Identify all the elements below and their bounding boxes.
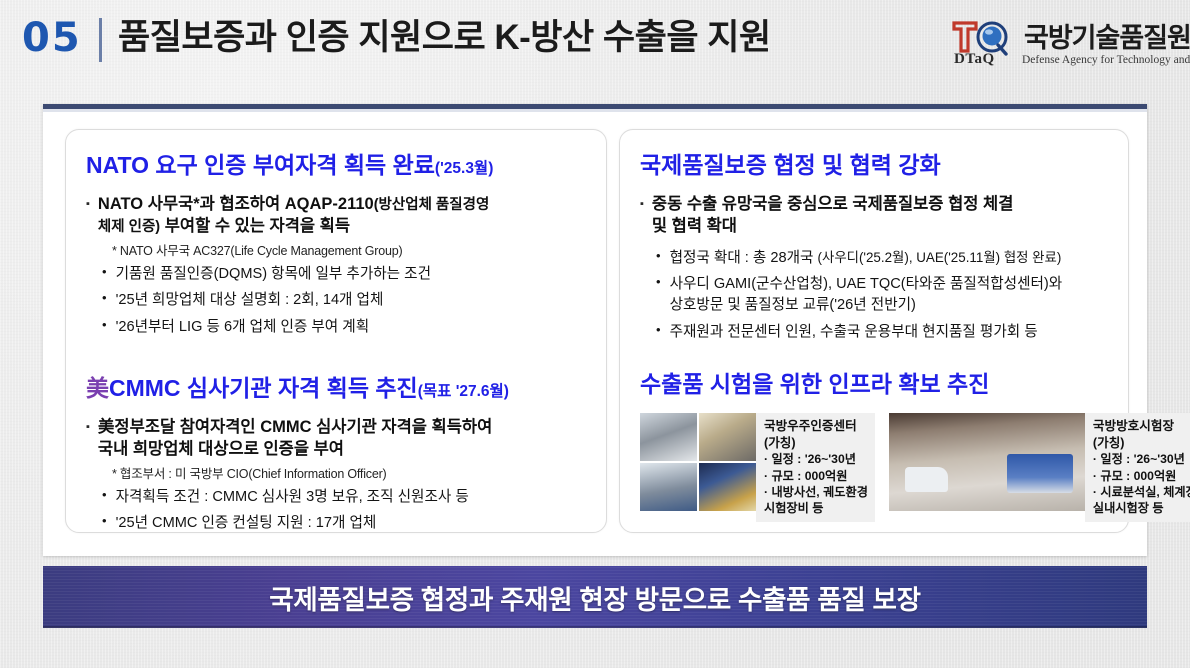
left-s1-b1a: NATO 사무국*과 협조하여 AQAP-2110: [98, 195, 374, 213]
right-s1-sub1-a: 사우디 GAMI(군수산업청), UAE TQC(타와준 품질적합성센터)와: [670, 276, 1063, 292]
caption-line: · 규모 : 000억원: [1093, 468, 1190, 484]
caption-line-label: · 일정 :: [1093, 452, 1134, 466]
left-s2-sub-0: 자격획득 조건 : CMMC 심사원 3명 보유, 조직 신원조사 등: [116, 487, 469, 508]
left-s2-b1b: 국내 희망업체 대상으로 인증을 부여: [98, 440, 344, 458]
caption-line-label: · 내방사선, 궤도환경: [764, 485, 868, 499]
caption-line-value: 000억원: [1134, 469, 1177, 483]
caption-line-label: · 규모 :: [764, 469, 805, 483]
protection-site-caption: 국방방호시험장 (가칭) · 일정 : '26~'30년 · 규모 : 000억…: [1085, 413, 1190, 522]
right-section1-title-main: 국제품질보증 협정 및 협력 강화: [640, 152, 941, 178]
left-section2-title-paren: (목표 '27.6월): [418, 383, 509, 400]
bullet-secondary: • 기품원 품질인증(DQMS) 항목에 일부 추가하는 조건: [102, 264, 596, 285]
left-section1-title-main: NATO 요구 인증 부여자격 획득 완료: [86, 152, 435, 178]
dtaq-logo: 국방기술품질원 DTaQ Defense Agency for Technolo…: [940, 18, 1178, 76]
bullet-dot-icon: •: [102, 513, 107, 534]
caption-line: 시험장비 등: [764, 500, 868, 516]
bullet-dot-icon: •: [102, 317, 107, 338]
bullet-dot-icon: •: [656, 274, 661, 315]
bullet-square-icon: ▪: [640, 194, 644, 238]
right-s1-sub0-a: 협정국 확대 : 총 28개국: [670, 250, 818, 266]
right-section2-title-main: 수출품 시험을 위한 인프라 확보 추진: [640, 371, 989, 397]
left-section2-title-cn: 美: [86, 375, 109, 401]
caption-line-label: · 일정 :: [764, 452, 805, 466]
slide-header: 05 품질보증과 인증 지원으로 K-방산 수출을 지원 국방기술품질원 DTa…: [0, 0, 1190, 92]
left-section2-body: ▪ 美정부조달 참여자격인 CMMC 심사기관 자격을 획득하여 국내 희망업체…: [86, 417, 596, 540]
logo-abbrev: DTaQ: [954, 51, 995, 68]
right-section1-body: ▪ 중동 수출 유망국을 중심으로 국제품질보증 협정 체결 및 협력 확대 •…: [640, 194, 1120, 348]
caption-subtitle: (가칭): [764, 435, 868, 452]
infra-block-protection-site: 국방방호시험장 (가칭) · 일정 : '26~'30년 · 규모 : 000억…: [889, 413, 1190, 522]
caption-line-value: '26~'30년: [1134, 452, 1185, 466]
content-board: NATO 요구 인증 부여자격 획득 완료('25.3월) ▪ NATO 사무국…: [43, 104, 1147, 556]
bullet-primary: ▪ 美정부조달 참여자격인 CMMC 심사기관 자격을 획득하여 국내 희망업체…: [86, 417, 596, 461]
bullet-secondary: • '26년부터 LIG 등 6개 업체 인증 부여 계획: [102, 317, 596, 338]
caption-line: · 일정 : '26~'30년: [764, 451, 868, 467]
space-center-caption: 국방우주인증센터 (가칭) · 일정 : '26~'30년 · 규모 : 000…: [756, 413, 875, 522]
bullet-secondary: • '25년 CMMC 인증 컨설팅 지원 : 17개 업체: [102, 513, 596, 534]
left-s1-note: * NATO 사무국 AC327(Life Cycle Management G…: [112, 240, 596, 259]
left-section1-title-paren: ('25.3월): [435, 160, 493, 177]
right-s1-b1a: 중동 수출 유망국을 중심으로 국제품질보증 협정 체결: [652, 195, 1013, 213]
left-section2-title: 美CMMC 심사기관 자격 획득 추진(목표 '27.6월): [86, 377, 509, 400]
left-s1-b1b: (방산업체 품질경영: [374, 197, 490, 213]
bullet-square-icon: ▪: [86, 194, 90, 238]
caption-line-label: · 규모 :: [1093, 469, 1134, 483]
left-section2-title-main: CMMC 심사기관 자격 획득 추진: [109, 375, 418, 401]
bullet-dot-icon: •: [656, 248, 661, 269]
bullet-secondary: • '25년 희망업체 대상 설명회 : 2회, 14개 업체: [102, 290, 596, 311]
caption-line: · 규모 : 000억원: [764, 468, 868, 484]
bullet-secondary: • 사우디 GAMI(군수산업청), UAE TQC(타와준 품질적합성센터)와…: [656, 274, 1120, 315]
logo-korean-name: 국방기술품질원: [1024, 16, 1190, 55]
left-s2-b1a: 美정부조달 참여자격인 CMMC 심사기관 자격을 획득하여: [98, 418, 492, 436]
caption-line: · 내방사선, 궤도환경: [764, 484, 868, 500]
left-s1-b1d: 부여할 수 있는 자격을 획득: [160, 217, 350, 235]
bullet-secondary: • 주재원과 전문센터 인원, 수출국 운용부대 현지품질 평가회 등: [656, 322, 1120, 343]
bullet-square-icon: ▪: [86, 417, 90, 461]
left-s1-sub-0: 기품원 품질인증(DQMS) 항목에 일부 추가하는 조건: [116, 264, 431, 285]
bullet-dot-icon: •: [102, 290, 107, 311]
photo-satellite-1: [699, 463, 756, 511]
left-section1-title: NATO 요구 인증 부여자격 획득 완료('25.3월): [86, 154, 493, 177]
page-title: 품질보증과 인증 지원으로 K-방산 수출을 지원: [118, 17, 771, 59]
board-top-accent-light: [43, 109, 1147, 112]
photo-chamber-1: [699, 413, 756, 461]
right-s1-sub2-a: 주재원과 전문센터 인원, 수출국 운용부대 현지품질 평가회 등: [670, 322, 1038, 343]
right-section1-title: 국제품질보증 협정 및 협력 강화: [640, 154, 941, 177]
bottom-summary-banner: 국제품질보증 협정과 주재원 현장 방문으로 수출품 품질 보장: [43, 566, 1147, 628]
logo-english-name: Defense Agency for Technology and Qualit…: [1022, 54, 1190, 66]
defense-protection-test-site-photo: [889, 413, 1085, 511]
right-s1-sub1-b: 상호방문 및 품질정보 교류('26년 전반기): [670, 297, 916, 313]
right-s1-sub0-b: (사우디('25.2월), UAE('25.11월) 협정 완료): [818, 250, 1062, 265]
header-divider: [99, 18, 102, 62]
photo-lab-2: [640, 463, 697, 511]
caption-title: 국방우주인증센터: [764, 418, 868, 435]
caption-line: 실내시험장 등: [1093, 500, 1190, 516]
left-s2-sub-1: '25년 CMMC 인증 컨설팅 지원 : 17개 업체: [116, 513, 377, 534]
infrastructure-photo-blocks: 국방우주인증센터 (가칭) · 일정 : '26~'30년 · 규모 : 000…: [640, 413, 1190, 522]
right-content-card: 국제품질보증 협정 및 협력 강화 ▪ 중동 수출 유망국을 중심으로 국제품질…: [619, 129, 1129, 533]
caption-line-label: 시험장비 등: [764, 501, 823, 515]
bullet-dot-icon: •: [102, 487, 107, 508]
caption-line-label: 실내시험장 등: [1093, 501, 1164, 515]
caption-line: · 일정 : '26~'30년: [1093, 451, 1190, 467]
left-s1-b1c: 체제 인증): [98, 219, 160, 235]
caption-subtitle: (가칭): [1093, 435, 1190, 452]
bullet-primary: ▪ NATO 사무국*과 협조하여 AQAP-2110(방산업체 품질경영 체제…: [86, 194, 596, 238]
caption-line-value: '26~'30년: [805, 452, 856, 466]
photo-lab-1: [640, 413, 697, 461]
caption-title: 국방방호시험장: [1093, 418, 1190, 435]
bullet-dot-icon: •: [102, 264, 107, 285]
infra-block-space-center: 국방우주인증센터 (가칭) · 일정 : '26~'30년 · 규모 : 000…: [640, 413, 875, 522]
space-certification-center-photos: [640, 413, 756, 511]
left-section1-body: ▪ NATO 사무국*과 협조하여 AQAP-2110(방산업체 품질경영 체제…: [86, 194, 596, 344]
caption-line: · 시료분석실, 체계장비: [1093, 484, 1190, 500]
banner-text: 국제품질보증 협정과 주재원 현장 방문으로 수출품 품질 보장: [43, 566, 1147, 628]
page-number: 05: [22, 18, 82, 58]
left-s1-sub-2: '26년부터 LIG 등 6개 업체 인증 부여 계획: [116, 317, 370, 338]
bullet-secondary: • 협정국 확대 : 총 28개국 (사우디('25.2월), UAE('25.…: [656, 248, 1120, 269]
caption-line-value: 000억원: [805, 469, 848, 483]
caption-line-label: · 시료분석실, 체계장비: [1093, 485, 1190, 499]
left-s1-sub-1: '25년 희망업체 대상 설명회 : 2회, 14개 업체: [116, 290, 384, 311]
right-section2-title: 수출품 시험을 위한 인프라 확보 추진: [640, 373, 989, 396]
right-s1-b1b: 및 협력 확대: [652, 217, 737, 235]
bullet-primary: ▪ 중동 수출 유망국을 중심으로 국제품질보증 협정 체결 및 협력 확대: [640, 194, 1120, 238]
bullet-secondary: • 자격획득 조건 : CMMC 심사원 3명 보유, 조직 신원조사 등: [102, 487, 596, 508]
left-content-card: NATO 요구 인증 부여자격 획득 완료('25.3월) ▪ NATO 사무국…: [65, 129, 607, 533]
bullet-dot-icon: •: [656, 322, 661, 343]
left-s2-note: * 협조부서 : 미 국방부 CIO(Chief Information Off…: [112, 463, 596, 482]
